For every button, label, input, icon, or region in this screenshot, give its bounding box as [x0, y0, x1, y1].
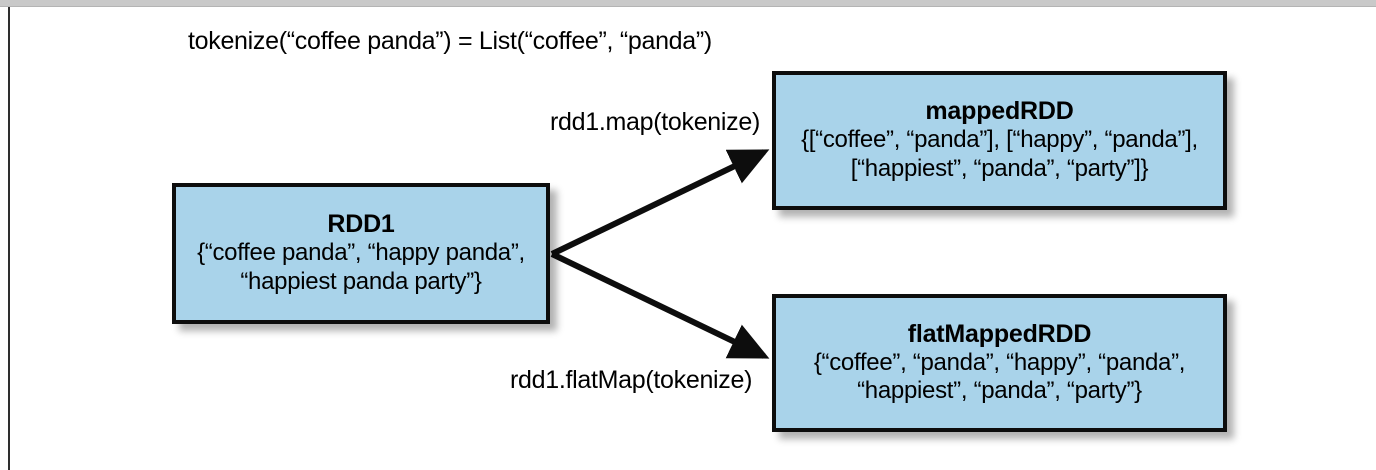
edge-label-flatmap: rdd1.flatMap(tokenize): [510, 366, 752, 395]
node-rdd1-contents: {“coffee panda”, “happy panda”, “happies…: [191, 239, 531, 296]
node-flatmapped-rdd-contents: {“coffee”, “panda”, “happy”, “panda”, “h…: [808, 349, 1191, 406]
arrow-rdd1-to-mapped-rdd: [552, 152, 764, 254]
edge-label-map: rdd1.map(tokenize): [550, 108, 760, 137]
page-top-rule: [0, 0, 1376, 7]
node-mapped-rdd-contents: {[“coffee”, “panda”], [“happy”, “panda”]…: [795, 126, 1204, 183]
node-rdd1-title: RDD1: [327, 211, 394, 238]
figure-canvas: tokenize(“coffee panda”) = List(“coffee”…: [0, 0, 1376, 470]
node-rdd1: RDD1 {“coffee panda”, “happy panda”, “ha…: [172, 183, 550, 324]
tokenize-definition-label: tokenize(“coffee panda”) = List(“coffee”…: [188, 27, 712, 56]
page-left-rule: [8, 7, 10, 470]
node-mapped-rdd-title: mappedRDD: [925, 98, 1073, 125]
node-flatmapped-rdd-title: flatMappedRDD: [908, 321, 1092, 348]
arrow-rdd1-to-flatmapped-rdd: [552, 254, 764, 356]
node-mapped-rdd: mappedRDD {[“coffee”, “panda”], [“happy”…: [772, 71, 1227, 210]
node-flatmapped-rdd: flatMappedRDD {“coffee”, “panda”, “happy…: [772, 294, 1227, 432]
